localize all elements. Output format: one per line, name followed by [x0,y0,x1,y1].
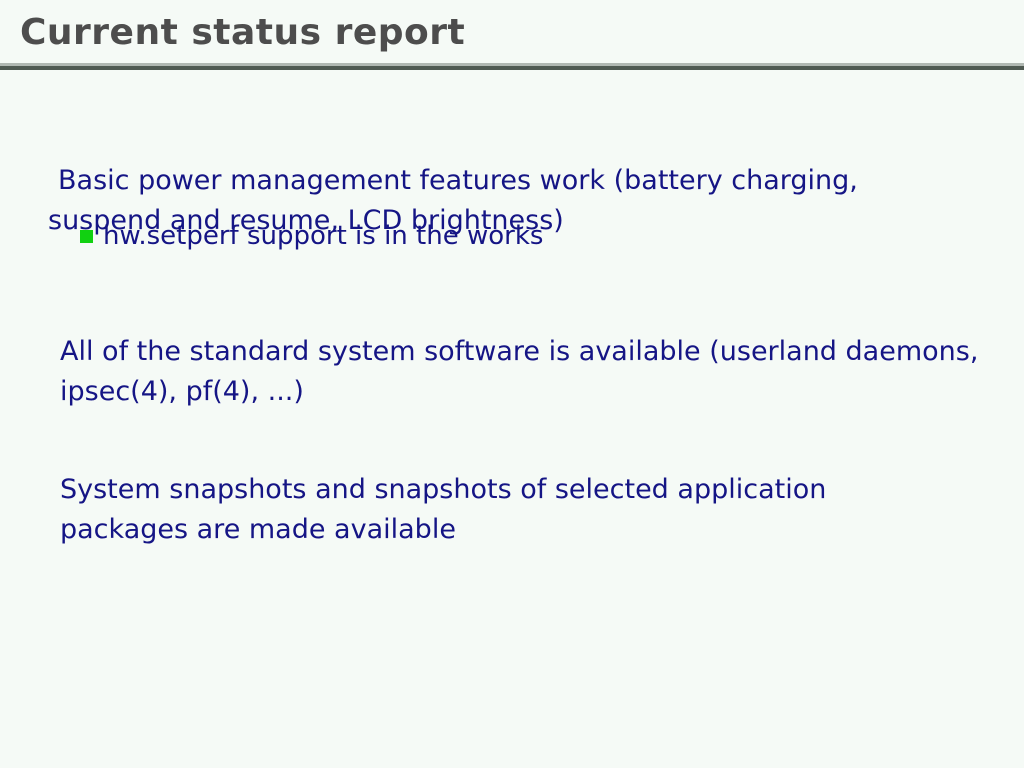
title-divider [0,63,1024,70]
slide-body: Basic power management features work (ba… [0,71,1024,768]
page-title: Current status report [20,11,465,55]
presentation-slide: Current status report Basic power manage… [0,0,1024,768]
sub-bullet-label: hw.setperf support is in the works [103,218,543,254]
sub-bullet-item-hw-setperf: hw.setperf support is in the works [80,218,840,254]
bullet-paragraph-snapshots: System snapshots and snapshots of select… [60,470,960,550]
title-divider-dark-line [0,66,1024,70]
square-bullet-icon [80,230,93,243]
bullet-paragraph-standard-software: All of the standard system software is a… [60,332,980,412]
slide-header: Current status report [0,0,1024,71]
